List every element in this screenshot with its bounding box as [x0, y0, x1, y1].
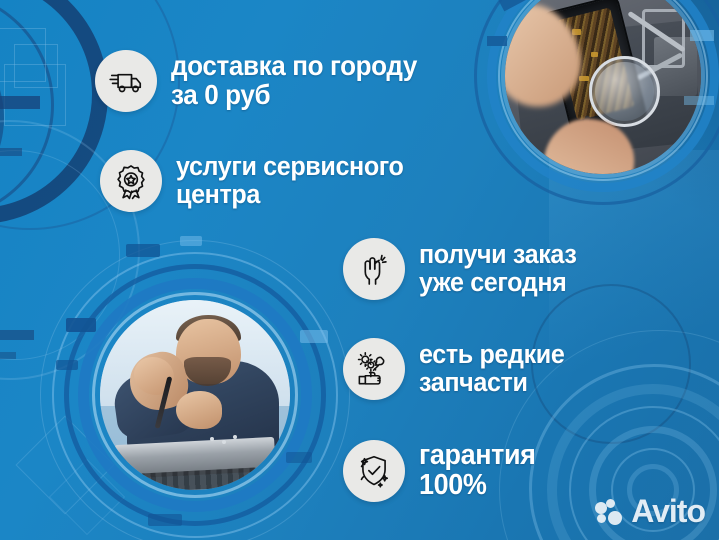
decorative-ring	[0, 0, 54, 220]
finger-snap-icon	[343, 238, 405, 300]
shield-check-icon	[343, 440, 405, 502]
feature-label: гарантия 100%	[419, 441, 536, 501]
decorative-bar	[0, 148, 22, 156]
decorative-square	[4, 64, 66, 126]
feature-item-warranty: гарантия 100%	[343, 440, 544, 502]
frame-segment	[66, 318, 96, 332]
hand-gears-wrench-icon	[343, 338, 405, 400]
feature-label: получи заказ уже сегодня	[419, 241, 576, 297]
feature-item-rare-parts: есть редкие запчасти	[343, 338, 575, 400]
feature-label: доставка по городу за 0 руб	[171, 52, 417, 110]
frame-segment	[690, 30, 714, 41]
decorative-bar	[0, 330, 34, 340]
feature-item-service-center: услуги сервисного центра	[100, 150, 421, 212]
frame-segment	[56, 360, 78, 370]
delivery-truck-icon	[95, 50, 157, 112]
promo-poster: доставка по городу за 0 руб услуги серви…	[0, 0, 719, 540]
award-badge-icon	[100, 150, 162, 212]
feature-item-same-day: получи заказ уже сегодня	[343, 238, 588, 300]
decorative-ring	[0, 0, 108, 224]
frame-segment	[684, 96, 714, 105]
avito-dots-logo	[595, 499, 625, 525]
decorative-ring	[0, 18, 4, 218]
avito-wordmark: Avito	[631, 493, 705, 530]
decorative-square	[14, 44, 58, 88]
feature-label: есть редкие запчасти	[419, 341, 564, 397]
frame-segment	[300, 330, 328, 343]
feature-item-delivery: доставка по городу за 0 руб	[95, 50, 435, 112]
frame-segment	[487, 36, 507, 46]
decorative-bar	[0, 352, 16, 359]
frame-segment	[148, 514, 182, 526]
avito-watermark: Avito	[595, 493, 705, 530]
laptop-technician-photo	[100, 300, 290, 490]
frame-segment	[180, 236, 202, 246]
feature-label: услуги сервисного центра	[176, 153, 404, 209]
frame-segment	[286, 452, 312, 463]
frame-segment	[126, 244, 160, 257]
decorative-bar	[0, 96, 40, 109]
phone-repair-photo	[505, 0, 701, 174]
decorative-square	[0, 28, 46, 82]
